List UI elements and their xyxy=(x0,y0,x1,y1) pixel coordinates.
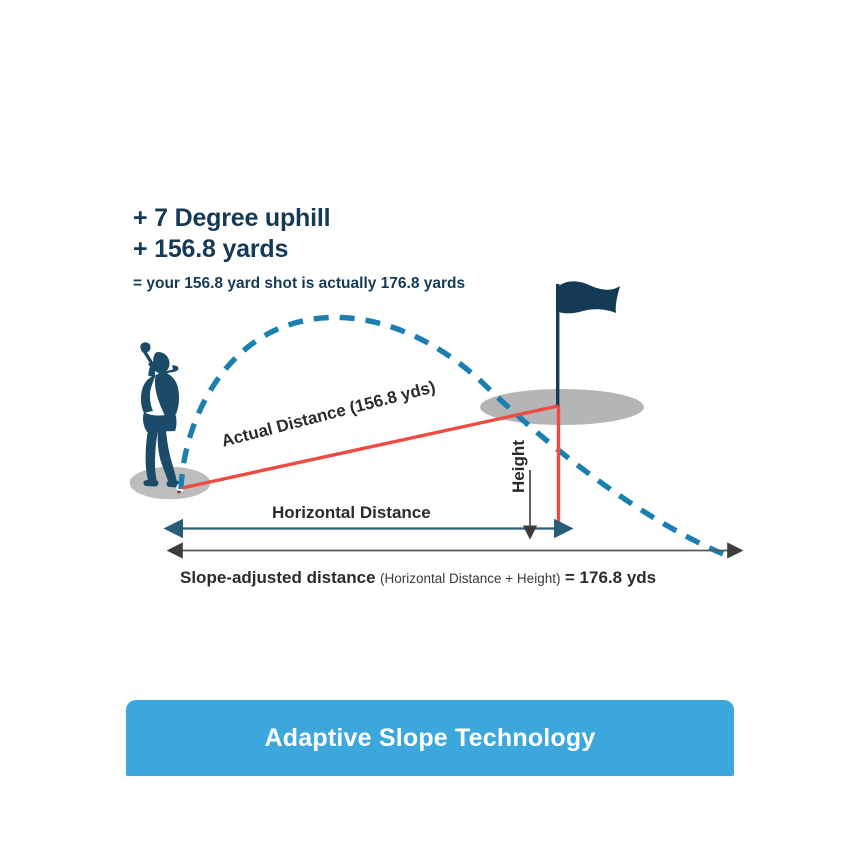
slope-adjusted-caption: Slope-adjusted distance (Horizontal Dist… xyxy=(180,568,656,588)
golfer-hips xyxy=(143,412,177,432)
golf-club-head xyxy=(140,342,150,353)
adaptive-slope-technology-banner[interactable]: Adaptive Slope Technology xyxy=(126,700,734,776)
label-horizontal-distance: Horizontal Distance xyxy=(272,503,431,523)
golf-ball-shadow xyxy=(177,491,181,494)
golfer-shoe-back xyxy=(144,480,159,487)
golfer-torso xyxy=(155,372,179,418)
caption-strong: Slope-adjusted distance xyxy=(180,568,376,587)
banner-label: Adaptive Slope Technology xyxy=(265,724,596,753)
golfer-back xyxy=(141,375,156,413)
caption-result: = 176.8 yds xyxy=(565,568,656,587)
infographic-page: + 7 Degree uphill + 156.8 yards = your 1… xyxy=(0,0,860,860)
label-height: Height xyxy=(509,440,529,493)
caption-parenthetical: (Horizontal Distance + Height) xyxy=(380,571,560,586)
golf-flag-icon xyxy=(556,281,620,408)
flag-pennant xyxy=(559,281,620,313)
